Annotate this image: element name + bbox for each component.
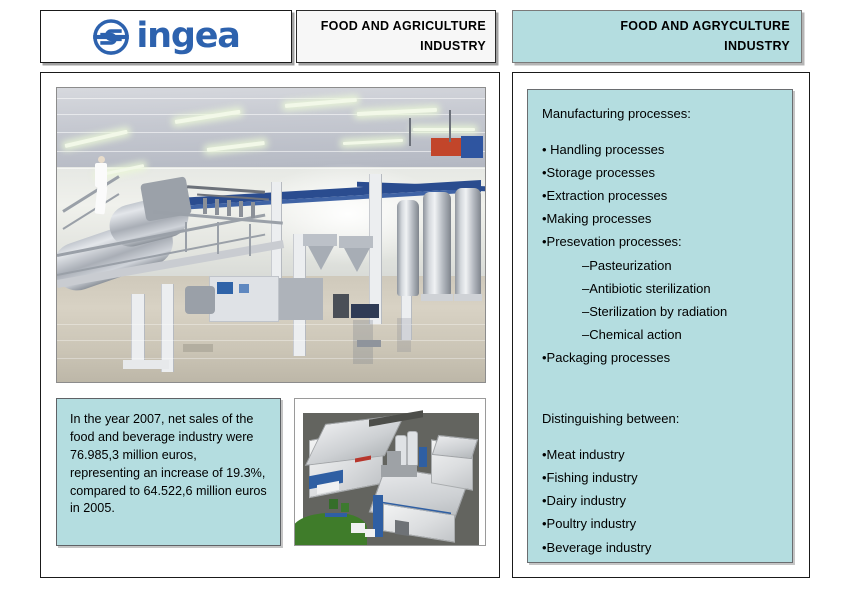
worker-head <box>98 156 105 163</box>
process-vessel <box>185 286 215 314</box>
right-title-line-2: INDUSTRY <box>724 37 790 56</box>
control-panel <box>239 284 249 293</box>
building-right-roof <box>432 435 478 459</box>
sub-bullet-pasteurization: –Pasteurization <box>542 254 782 277</box>
control-panel <box>217 282 233 294</box>
rail-post <box>185 222 187 252</box>
title-box-right: FOOD AND AGRYCULTURE INDUSTRY <box>512 10 802 63</box>
hopper-cone <box>343 246 371 272</box>
photo-factory-interior <box>56 87 486 383</box>
statistics-text: In the year 2007, net sales of the food … <box>70 411 268 518</box>
yard-container <box>351 523 365 533</box>
support-column <box>131 294 145 368</box>
photo-aerial-plant <box>294 398 486 546</box>
bullet-poultry-industry: •Poultry industry <box>542 512 782 535</box>
ingea-logo: ingea <box>92 18 239 56</box>
logo-box: ingea <box>40 10 292 63</box>
storage-tank <box>423 192 451 296</box>
bullet-handling: • Handling processes <box>542 138 782 161</box>
floor-fixture <box>183 344 213 352</box>
valve <box>203 198 207 214</box>
hopper-cone <box>307 244 335 270</box>
yard-tree <box>341 503 349 512</box>
floor-seam <box>57 340 485 341</box>
distinguishing-heading: Distinguishing between: <box>542 411 782 428</box>
floor-seam <box>57 358 485 359</box>
manufacturing-heading: Manufacturing processes: <box>542 106 782 123</box>
bullet-meat-industry: •Meat industry <box>542 443 782 466</box>
storage-tank <box>397 200 419 296</box>
valve <box>227 200 231 216</box>
yard-marking <box>325 513 347 517</box>
bullet-extraction: •Extraction processes <box>542 184 782 207</box>
bullet-storage: •Storage processes <box>542 161 782 184</box>
floor-reflection <box>397 318 411 352</box>
slide-left: In the year 2007, net sales of the food … <box>40 72 500 578</box>
sub-bullet-antibiotic-sterilization: –Antibiotic sterilization <box>542 277 782 300</box>
column-base <box>123 360 169 369</box>
process-vessel <box>279 278 323 320</box>
machine-dark <box>333 294 349 318</box>
ceiling-lamp <box>413 128 475 131</box>
yard-container <box>365 529 375 537</box>
hopper-body <box>303 234 337 246</box>
ceiling-seam <box>57 114 485 115</box>
floor-fixture <box>357 340 381 347</box>
sub-bullet-chemical-action: –Chemical action <box>542 323 782 346</box>
right-title-line-1: FOOD AND AGRYCULTURE <box>620 17 790 36</box>
tank-base <box>421 294 453 301</box>
bullet-packaging: •Packaging processes <box>542 346 782 369</box>
bullet-fishing-industry: •Fishing industry <box>542 466 782 489</box>
rail-post <box>249 224 251 256</box>
crane-hanger <box>409 118 411 146</box>
hopper-body <box>339 236 373 248</box>
ceiling-seam <box>57 151 485 152</box>
bullet-beverage-industry: •Beverage industry <box>542 536 782 559</box>
bullet-presevation: •Presevation processes: <box>542 230 782 253</box>
warehouse-door <box>395 520 409 536</box>
statistics-text-box: In the year 2007, net sales of the food … <box>56 398 281 546</box>
content-panel-right: Manufacturing processes: • Handling proc… <box>527 89 793 563</box>
left-title-line-1: FOOD AND AGRICULTURE <box>321 17 486 36</box>
valve <box>251 202 255 218</box>
yard-tree <box>329 499 338 509</box>
slide-right: Manufacturing processes: • Handling proc… <box>512 72 810 578</box>
machine-dark <box>351 304 379 318</box>
plant-equipment <box>381 465 417 477</box>
left-title-line-2: INDUSTRY <box>420 37 486 56</box>
tank-base <box>454 294 482 301</box>
bullet-dairy-industry: •Dairy industry <box>542 489 782 512</box>
valve <box>239 201 243 217</box>
plant-equipment-blue <box>419 447 427 467</box>
section-spacer <box>542 369 782 411</box>
sub-bullet-sterilization-by-radiation: –Sterilization by radiation <box>542 300 782 323</box>
silo <box>407 431 418 467</box>
floor-seam <box>57 324 485 325</box>
logo-wordmark: ingea <box>136 19 239 54</box>
crane-motor <box>461 136 483 158</box>
ceiling-seam <box>57 98 485 99</box>
crane-hanger <box>449 110 451 142</box>
title-box-left: FOOD AND AGRICULTURE INDUSTRY <box>296 10 496 63</box>
worker-body <box>95 163 107 187</box>
bullet-making: •Making processes <box>542 207 782 230</box>
valve <box>215 199 219 215</box>
ingea-circle-logo-icon <box>92 18 130 56</box>
rail-post <box>217 222 219 254</box>
storage-tank <box>455 188 481 296</box>
